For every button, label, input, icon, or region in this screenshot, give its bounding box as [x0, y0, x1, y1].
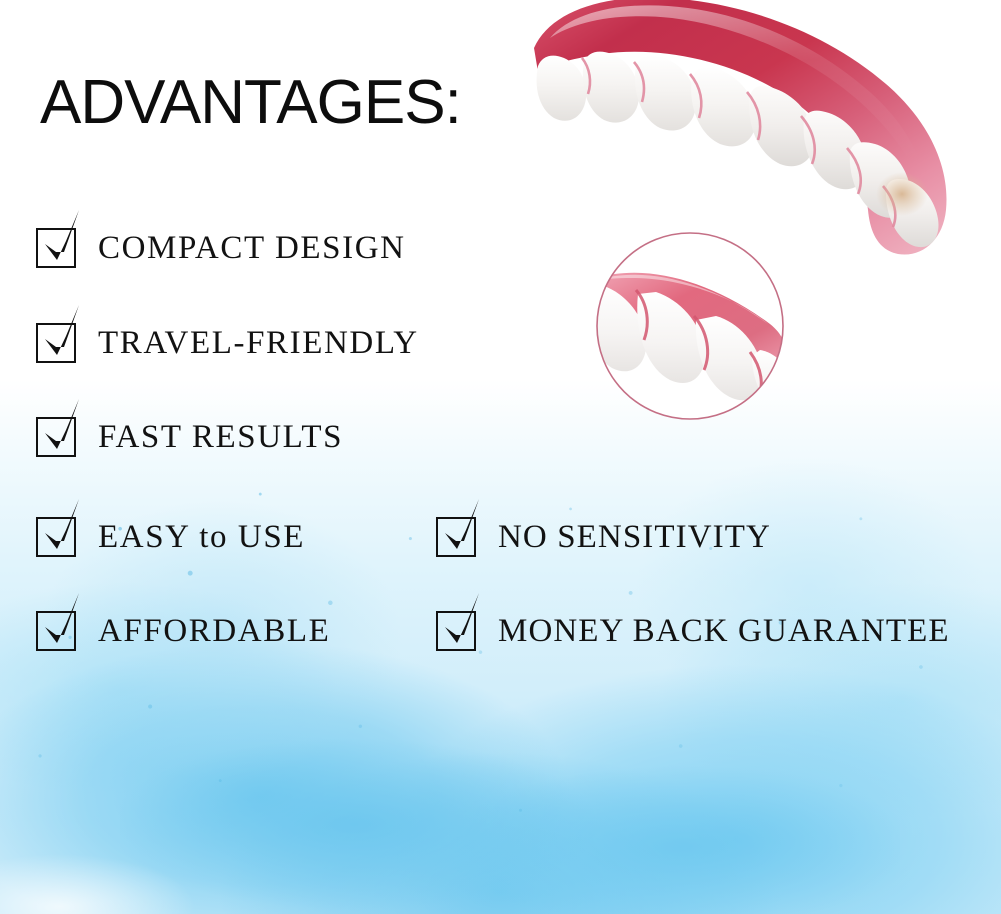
advantage-label: NO SENSITIVITY — [498, 521, 771, 554]
veneer-gum-scallops — [582, 58, 895, 227]
inset-circle-border — [597, 233, 783, 419]
checked-checkbox-icon[interactable] — [36, 611, 76, 651]
inset-teeth — [592, 286, 788, 413]
advantage-label: EASY to USE — [98, 521, 305, 554]
veneer-closeup-inset — [592, 228, 788, 424]
page-title: ADVANTAGES: — [40, 72, 461, 134]
veneer-gum-highlight — [550, 5, 926, 200]
checked-checkbox-icon[interactable] — [36, 517, 76, 557]
advantages-infographic: ADVANTAGES: COMPACT DESIGN TRAVEL-FRIEND… — [0, 0, 1001, 914]
inset-content — [592, 228, 788, 424]
veneer-teeth-row — [537, 52, 939, 247]
advantage-label: FAST RESULTS — [98, 421, 343, 454]
advantage-item-fast-results[interactable]: FAST RESULTS — [36, 417, 343, 457]
dental-veneer-image — [498, 0, 1001, 296]
advantage-label: MONEY BACK GUARANTEE — [498, 615, 950, 648]
inset-illustration — [592, 228, 788, 424]
advantage-item-money-back-guarantee[interactable]: MONEY BACK GUARANTEE — [436, 611, 950, 651]
watercolor-wash-right — [560, 400, 1001, 780]
checkmark-icon — [35, 397, 91, 461]
advantage-item-travel-friendly[interactable]: TRAVEL-FRIENDLY — [36, 323, 419, 363]
advantage-item-compact-design[interactable]: COMPACT DESIGN — [36, 228, 406, 268]
advantage-label: TRAVEL-FRIENDLY — [98, 327, 419, 360]
checkmark-icon — [35, 497, 91, 561]
checked-checkbox-icon[interactable] — [36, 417, 76, 457]
advantage-label: AFFORDABLE — [98, 615, 330, 648]
checked-checkbox-icon[interactable] — [36, 323, 76, 363]
veneer-gum-band — [534, 0, 947, 255]
inset-gum — [592, 273, 786, 382]
watercolor-deep-pool — [120, 690, 900, 914]
checkmark-icon — [35, 591, 91, 655]
checkmark-icon — [35, 303, 91, 367]
checked-checkbox-icon[interactable] — [436, 517, 476, 557]
checked-checkbox-icon[interactable] — [36, 228, 76, 268]
veneer-stain-detail — [876, 172, 928, 216]
watercolor-fade-bottom-left — [0, 840, 300, 914]
advantage-item-no-sensitivity[interactable]: NO SENSITIVITY — [436, 517, 771, 557]
advantage-label: COMPACT DESIGN — [98, 232, 406, 265]
inset-gloss — [592, 275, 768, 324]
veneer-illustration — [498, 0, 1001, 296]
advantage-item-easy-to-use[interactable]: EASY to USE — [36, 517, 305, 557]
checkmark-icon — [35, 208, 91, 272]
checkmark-icon — [435, 591, 491, 655]
advantage-item-affordable[interactable]: AFFORDABLE — [36, 611, 330, 651]
checkmark-icon — [435, 497, 491, 561]
watercolor-speckle-texture — [0, 420, 1001, 914]
checked-checkbox-icon[interactable] — [436, 611, 476, 651]
